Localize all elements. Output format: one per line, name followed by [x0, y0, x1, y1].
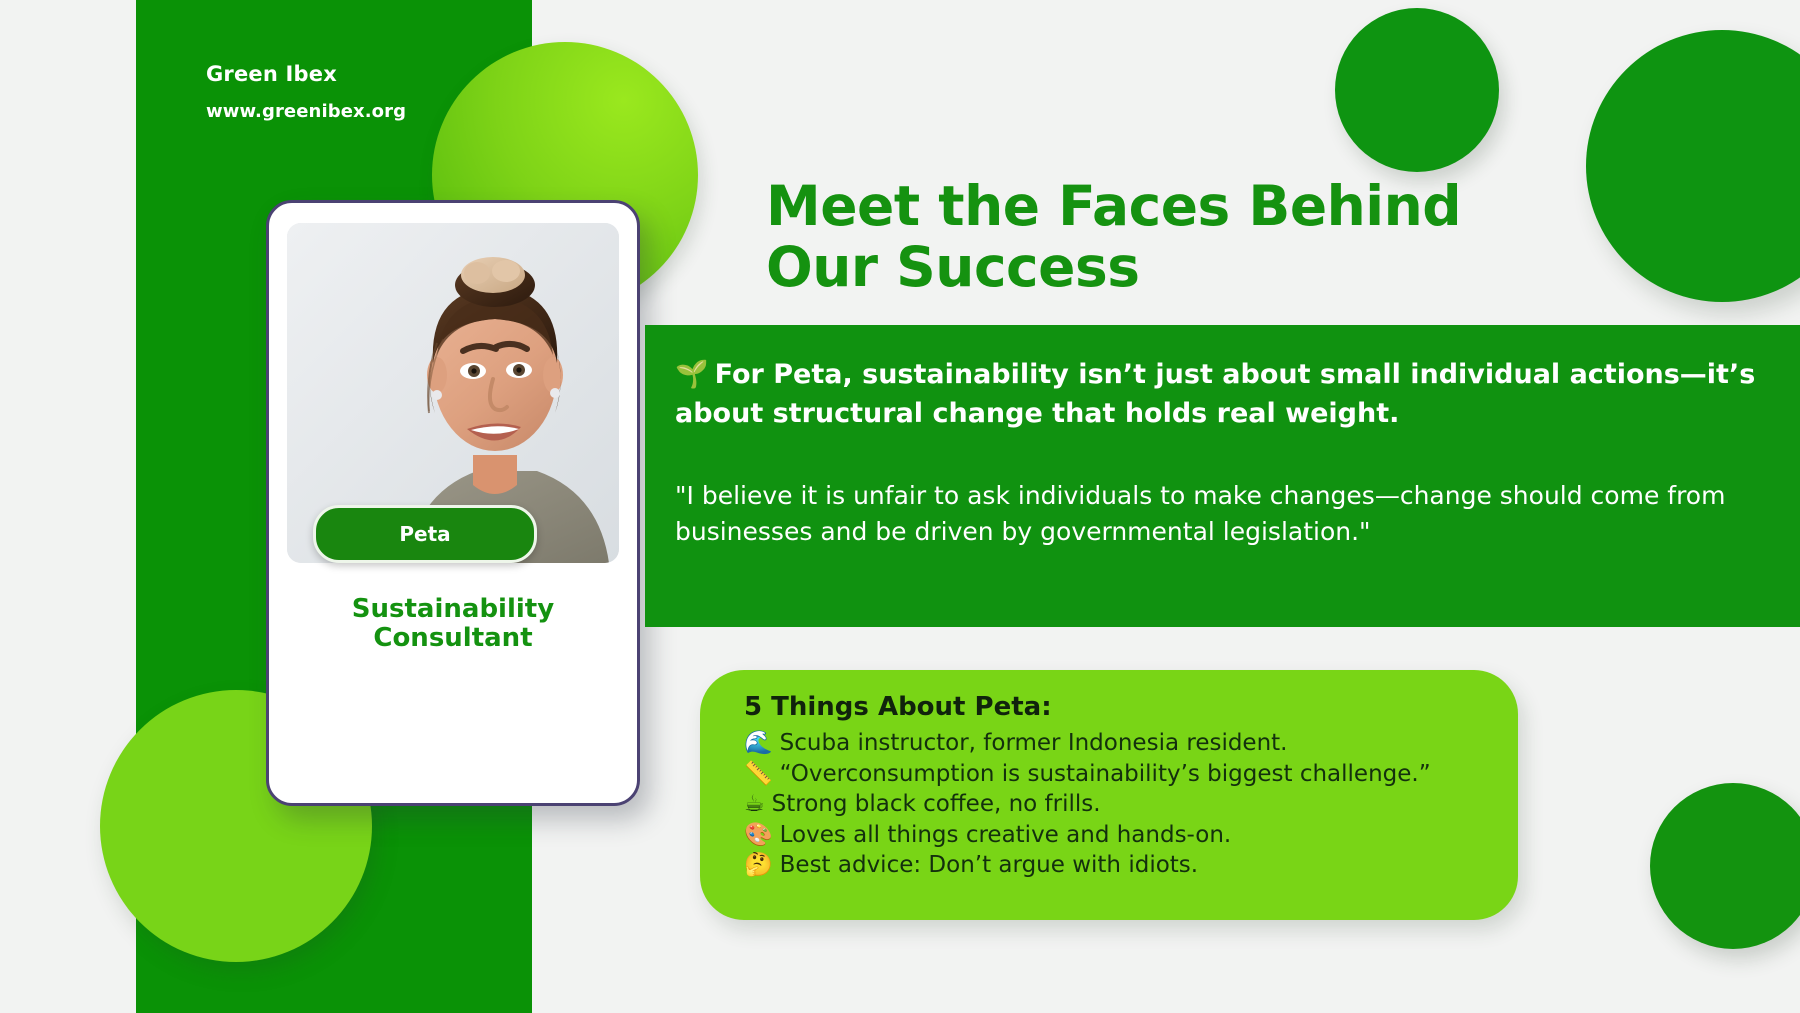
profile-role: Sustainability Consultant [269, 595, 637, 653]
list-item-text: Scuba instructor, former Indonesia resid… [780, 730, 1288, 756]
wave-icon: 🌊 [744, 730, 773, 756]
seedling-icon: 🌱 [675, 359, 709, 390]
quote-banner: 🌱For Peta, sustainability isn’t just abo… [645, 325, 1800, 627]
profile-role-line-1: Sustainability [269, 595, 637, 624]
facts-list: 🌊Scuba instructor, former Indonesia resi… [744, 728, 1484, 881]
list-item: 📏“Overconsumption is sustainability’s bi… [744, 759, 1484, 790]
list-item-text: Strong black coffee, no frills. [772, 791, 1101, 817]
facts-title: 5 Things About Peta: [744, 692, 1484, 722]
decorative-circle-top-right-small [1335, 8, 1499, 172]
palette-icon: 🎨 [744, 822, 773, 848]
quote-body-text: "I believe it is unfair to ask individua… [675, 478, 1760, 550]
page-title-line-2: Our Success [766, 237, 1506, 298]
profile-role-line-2: Consultant [269, 624, 637, 653]
thinking-face-icon: 🤔 [744, 852, 773, 878]
brand-website-url: www.greenibex.org [206, 101, 406, 122]
brand-name: Green Ibex [206, 62, 406, 86]
profile-name-badge: Peta [313, 505, 537, 563]
decorative-circle-bottom-right [1650, 783, 1800, 949]
list-item: ☕Strong black coffee, no frills. [744, 789, 1484, 820]
quote-lead-text: For Peta, sustainability isn’t just abou… [675, 359, 1755, 429]
facts-box: 5 Things About Peta: 🌊Scuba instructor, … [700, 670, 1518, 920]
profile-card: Peta Sustainability Consultant [266, 200, 640, 806]
list-item-text: Loves all things creative and hands-on. [780, 822, 1232, 848]
page-title: Meet the Faces Behind Our Success [766, 176, 1506, 297]
list-item-text: “Overconsumption is sustainability’s big… [780, 761, 1431, 787]
list-item-text: Best advice: Don’t argue with idiots. [780, 852, 1198, 878]
decorative-circle-top-right-large [1586, 30, 1800, 302]
coffee-icon: ☕ [744, 791, 765, 817]
list-item: 🤔Best advice: Don’t argue with idiots. [744, 850, 1484, 881]
list-item: 🌊Scuba instructor, former Indonesia resi… [744, 728, 1484, 759]
profile-name: Peta [399, 522, 450, 546]
ruler-icon: 📏 [744, 761, 773, 787]
slide-canvas: Green Ibex www.greenibex.org Meet the Fa… [0, 0, 1800, 1013]
quote-lead-paragraph: 🌱For Peta, sustainability isn’t just abo… [675, 355, 1760, 434]
list-item: 🎨Loves all things creative and hands-on. [744, 820, 1484, 851]
brand-block: Green Ibex www.greenibex.org [206, 62, 406, 122]
page-title-line-1: Meet the Faces Behind [766, 176, 1506, 237]
